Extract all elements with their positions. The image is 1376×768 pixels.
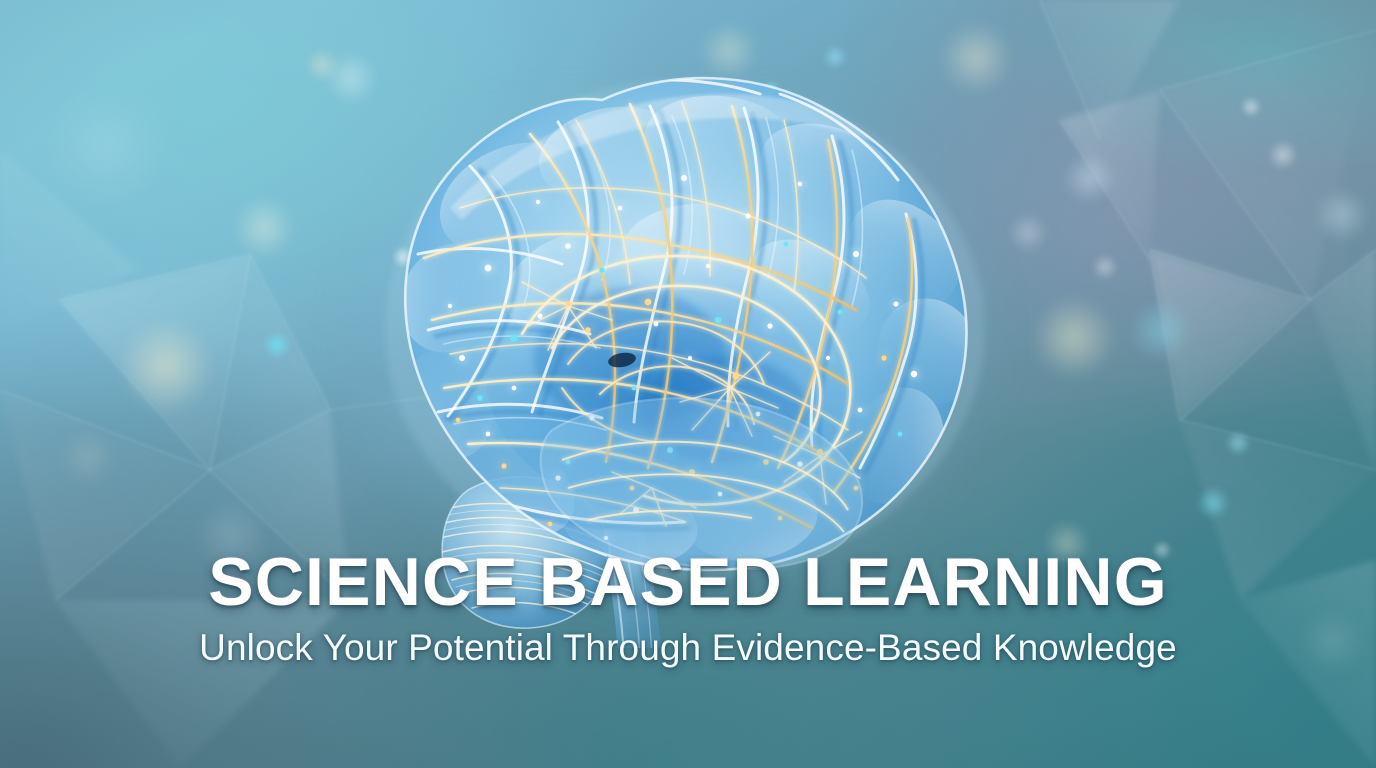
hero-banner: SCIENCE BASED LEARNING Unlock Your Poten… [0,0,1376,768]
brain-illustration [300,58,1040,648]
